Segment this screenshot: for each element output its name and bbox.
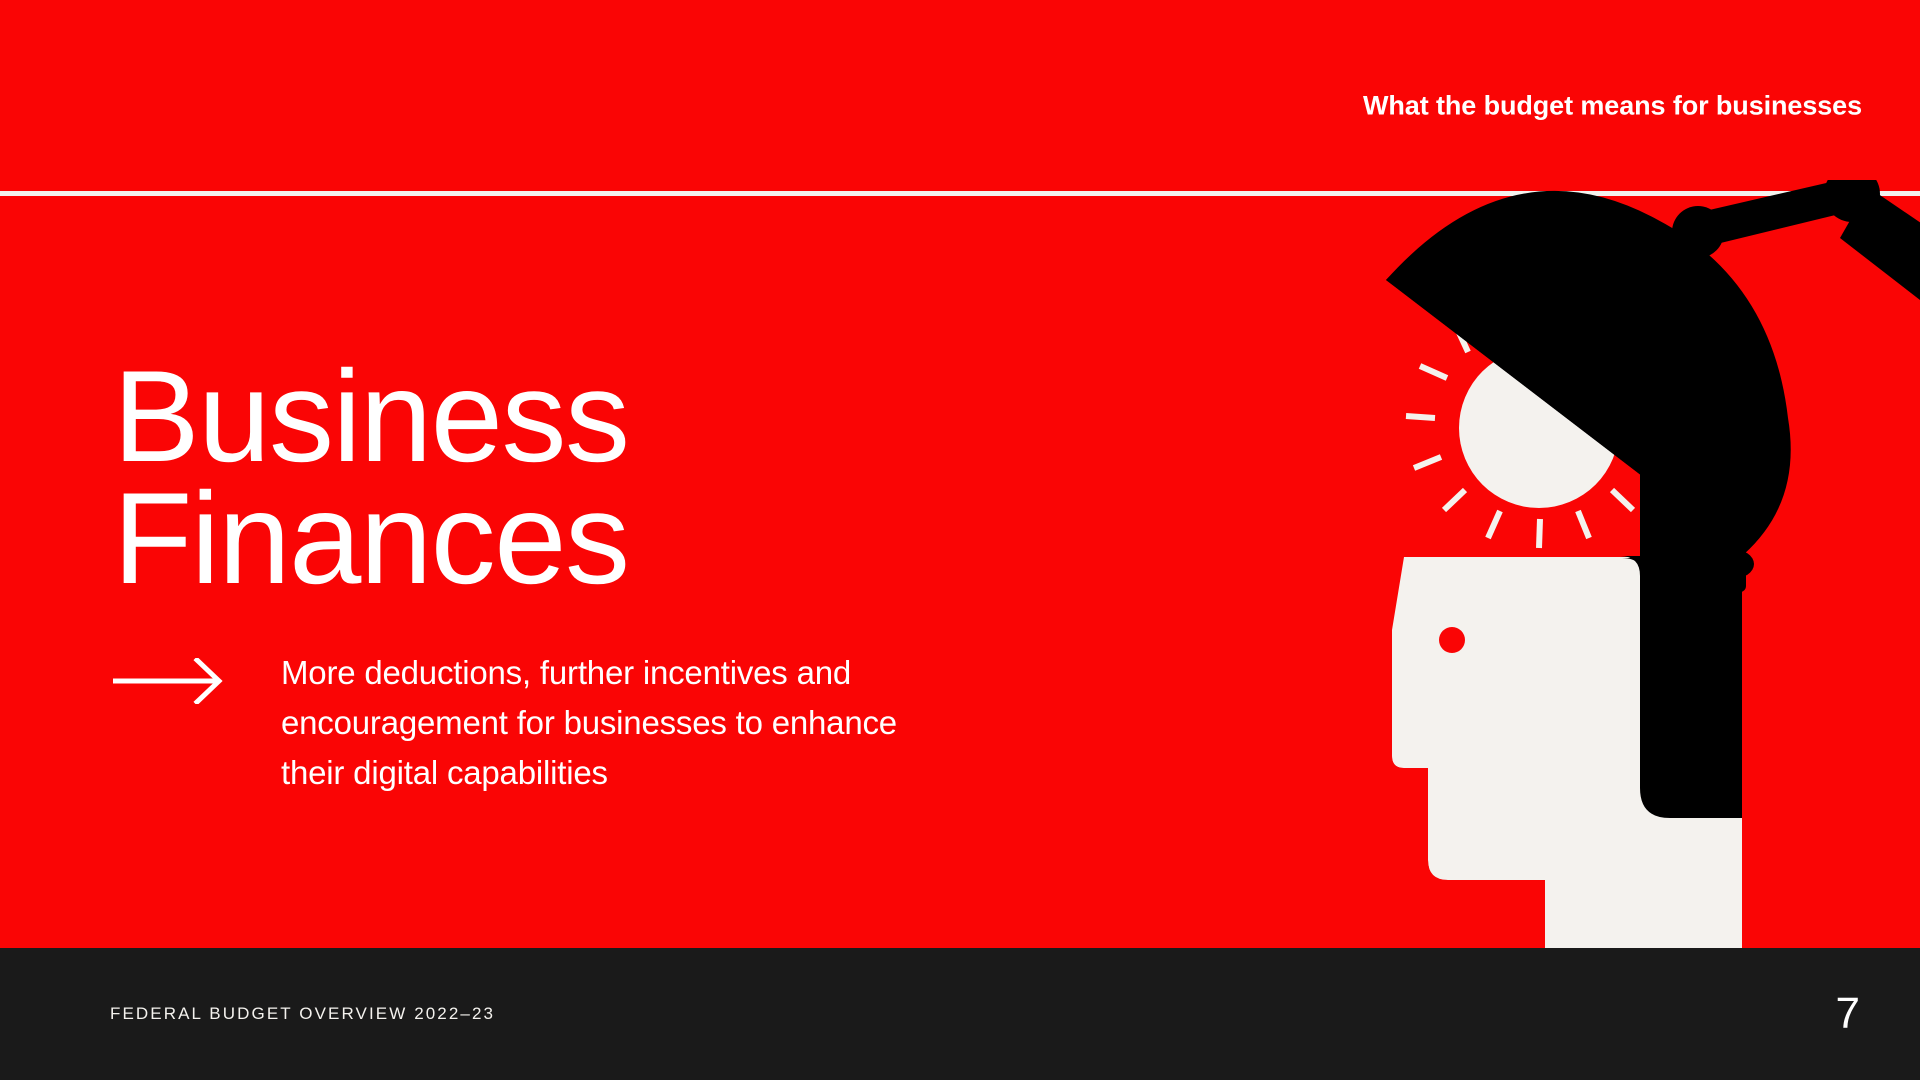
slide-title-line-2: Finances [113,477,873,599]
eye-dot-shape [1439,627,1465,653]
slide-title-line-1: Business [113,355,873,477]
slide-footer: FEDERAL BUDGET OVERVIEW 2022–23 7 [0,948,1920,1080]
slide-body-text: More deductions, further incentives and … [281,648,941,798]
slide-title: Business Finances [113,355,873,599]
presentation-slide: What the budget means for businesses Bus… [0,0,1920,1080]
footer-deck-label: FEDERAL BUDGET OVERVIEW 2022–23 [110,1004,495,1024]
slide-header: What the budget means for businesses [0,0,1920,193]
head-with-desk-lamp-illustration [1340,180,1920,948]
page-number: 7 [1836,992,1860,1036]
header-title: What the budget means for businesses [1363,91,1862,122]
arrow-right-icon [113,658,228,704]
lamp-shade-shape [1386,191,1791,554]
